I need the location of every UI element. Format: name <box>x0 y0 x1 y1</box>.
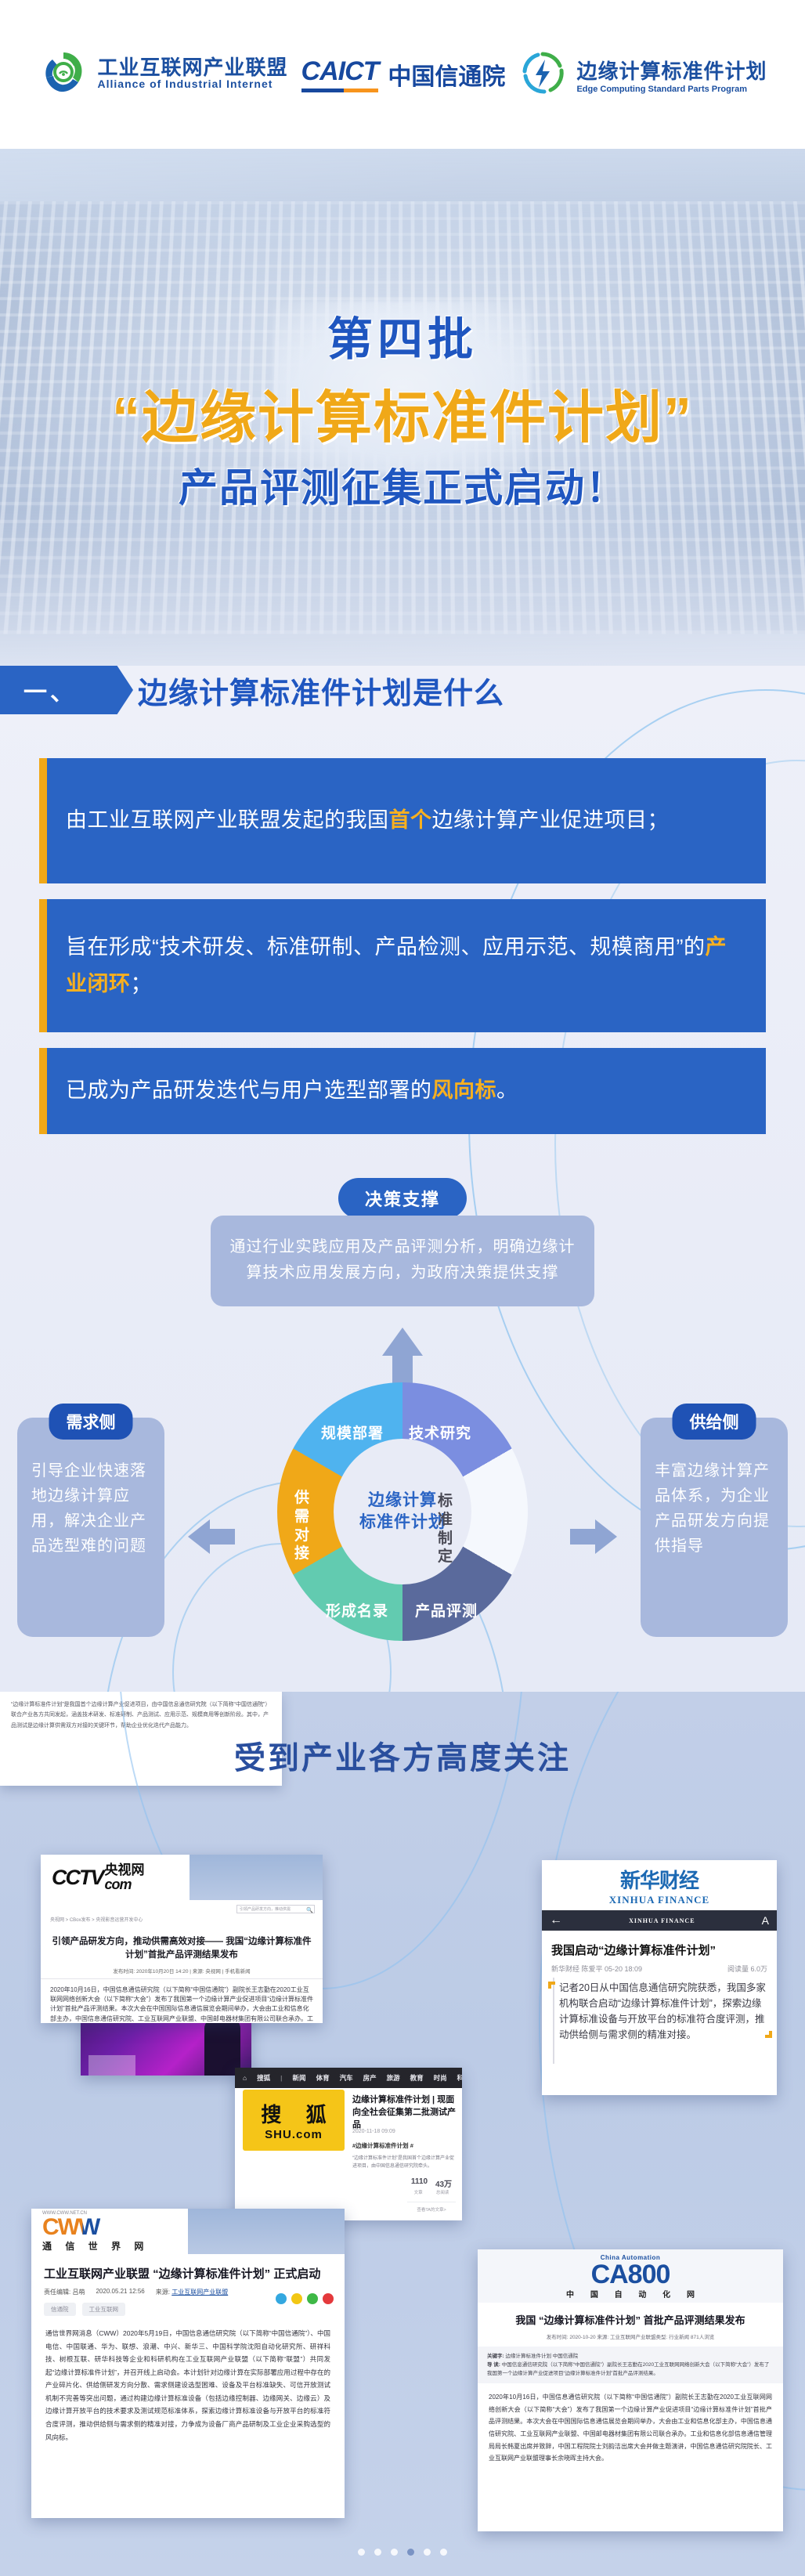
ca800-lead-label: 导 读: <box>487 2362 500 2368</box>
arrow-left-icon <box>188 1519 210 1554</box>
ca800-keyword-block: 关键字: 边缘计算标准件计划 中国信通院 导 读: 中国信息通信研究院（以下简称… <box>478 2347 783 2383</box>
xinhua-body-text: 记者20日从中国信息通信研究院获悉，我国多家机构联合启动“边缘计算标准件计划”，… <box>559 1982 766 2040</box>
carousel-dot-3[interactable] <box>407 2549 414 2556</box>
section-title: 边缘计算标准件计划是什么 <box>138 669 504 712</box>
aii-logo-icon <box>38 48 88 102</box>
home-icon[interactable]: ⌂ <box>243 2074 247 2082</box>
sohu-nav-6[interactable]: 教育 <box>410 2073 424 2083</box>
sohu-stat-reads-value: 43万 <box>435 2177 452 2189</box>
cww-editor-label: 责任编辑: <box>44 2289 70 2296</box>
xinhua-navbar-logo: XINHUA FINANCE <box>629 1917 695 1924</box>
logo-bar: 工业互联网产业联盟 Alliance of Industrial Interne… <box>0 0 805 149</box>
sohu-nav-2[interactable]: 体育 <box>316 2073 330 2083</box>
cww-logo-en: CWW <box>42 2216 149 2239</box>
share-icons <box>276 2293 334 2304</box>
aii-logo-en: Alliance of Industrial Internet <box>98 78 273 90</box>
carousel-dots[interactable] <box>358 2549 447 2556</box>
bullet-2-post: ； <box>131 972 153 995</box>
section-media-coverage: 受到产业各方高度关注 2020工业互联网 网络创新大会 CCTV 央视网 com <box>0 1692 805 2576</box>
section-what-is: 一、 边缘计算标准件计划是什么 由工业互联网产业联盟发起的我国首个边缘计算产业促… <box>0 666 805 1692</box>
aii-logo-cn: 工业互联网产业联盟 <box>98 56 288 79</box>
sohu-logo: 搜 狐 SHU.com <box>243 2090 345 2151</box>
hero-line-3: 产品评测征集正式启动！ <box>179 457 626 513</box>
bullet-item: 旨在形成“技术研发、标准研制、产品检测、应用示范、规模商用”的产业闭环； <box>39 899 766 1032</box>
sohu-body: “边缘计算标准件计划”是我国首个边缘计算产业促进项目，由中国信息通信研究院牵头。 <box>352 2155 458 2170</box>
sohu-logo-en: SHU.com <box>265 2128 323 2141</box>
hero-banner: 第四批 “边缘计算标准件计划” 产品评测征集正式启动！ <box>0 149 805 666</box>
cctv-search-input[interactable]: 引领产品研发方向，推动供需 🔍 <box>236 1905 315 1913</box>
news-card-cww[interactable]: WWW.CWW.NET.CN CWW 通 信 世 界 网 工业互联网产业联盟 “… <box>31 2209 345 2518</box>
xinhua-navbar: ← XINHUA FINANCE A <box>542 1910 777 1931</box>
search-icon[interactable]: 🔍 <box>306 1906 313 1915</box>
caict-underline <box>301 89 379 92</box>
xinhua-logo-en: XINHUA FINANCE <box>609 1894 709 1906</box>
carousel-dot-4[interactable] <box>424 2549 431 2556</box>
cctv-headline: 引领产品研发方向，推动供需高效对接—— 我国“边缘计算标准件计划”首批产品评测结… <box>41 1931 323 1961</box>
sohu-nav-0[interactable]: 搜狐 <box>257 2073 270 2083</box>
ca800-logo-cn: 中 国 自 动 化 网 <box>478 2288 783 2300</box>
segment-label-standard: 标准制定 <box>438 1492 463 1566</box>
cctv-breadcrumb: 央视网 > CBox发布 > 央视影音运营开发中心 <box>50 1917 313 1924</box>
xinhua-reads: 阅读量 6.0万 <box>727 1964 767 1974</box>
bullet-accent-bar <box>39 899 47 1032</box>
ca800-logo-big: CA800 <box>478 2261 783 2288</box>
cctv-search-value: 引领产品研发方向，推动供需 <box>240 1907 291 1912</box>
arrow-right-stem <box>570 1529 597 1545</box>
bullet-2-pre: 旨在形成“技术研发、标准研制、产品检测、应用示范、规模商用”的 <box>66 935 705 959</box>
cww-body: 通信世界网消息（CWW）2020年5月19日，中国信息通信研究院（以下简称“中国… <box>31 2316 345 2444</box>
news-card-ca800[interactable]: China Automation CA800 中 国 自 动 化 网 我国 “边… <box>478 2249 783 2531</box>
cctv-banner <box>190 1855 323 1900</box>
cww-date: 2020.05.21 12:56 <box>96 2288 144 2296</box>
font-size-icon[interactable]: A <box>762 1914 769 1927</box>
logo-aii: 工业互联网产业联盟 Alliance of Industrial Interne… <box>38 48 288 102</box>
hero-line-1: 第四批 <box>327 302 478 368</box>
carousel-dot-0[interactable] <box>358 2549 365 2556</box>
donut-center-line-1: 边缘计算 <box>368 1490 437 1512</box>
qzone-share-icon[interactable] <box>291 2293 302 2304</box>
bullet-3-post: 。 <box>496 1078 518 1102</box>
cww-headline: 工业互联网产业联盟 “边缘计算标准件计划” 正式启动 <box>31 2254 345 2282</box>
demand-side-tag: 需求侧 <box>49 1404 133 1440</box>
section-heading: 一、 边缘计算标准件计划是什么 <box>0 666 805 714</box>
ca800-logo: China Automation CA800 中 国 自 动 化 网 <box>478 2249 783 2303</box>
caict-logo-en: CAICT <box>301 56 379 86</box>
ecsp-logo-text: 边缘计算标准件计划 Edge Computing Standard Parts … <box>576 56 767 94</box>
sohu-headline: 边缘计算标准件计划 | 现面向全社会征集第二批测试产品 <box>352 2094 456 2132</box>
carousel-dot-2[interactable] <box>391 2549 398 2556</box>
ecsp-logo-en: Edge Computing Standard Parts Program <box>576 85 767 94</box>
ca800-keywords: 边缘计算标准件计划 中国信通院 <box>505 2354 578 2359</box>
segment-label-tech: 技术研究 <box>409 1422 471 1443</box>
sohu-nav-5[interactable]: 旅游 <box>387 2073 400 2083</box>
sohu-author-stats: 1110 43万 文章 总阅读 查看TA的文章> <box>407 2177 456 2213</box>
xinhua-author: 新华财经 陈爱平 05-20 18:09 <box>551 1964 642 1974</box>
bullet-1-highlight: 首个 <box>389 808 432 832</box>
cctv-meta: 发布时间: 2020年10月20日 14:20 | 来源: 央视网 | 手机看新… <box>41 1962 323 1979</box>
quote-close-icon <box>765 2031 772 2038</box>
sohu-nav-7[interactable]: 时尚 <box>434 2073 447 2083</box>
cww-editor: 吕萌 <box>72 2289 85 2296</box>
bullet-accent-bar <box>39 758 47 883</box>
sohu-nav-8[interactable]: 科技 <box>457 2073 462 2083</box>
bullet-item: 由工业互联网产业联盟发起的我国首个边缘计算产业促进项目； <box>39 758 766 883</box>
sohu-nav-4[interactable]: 房产 <box>363 2073 377 2083</box>
sohu-tag[interactable]: #边缘计算标准件计划 # <box>352 2141 413 2150</box>
xinhua-headline: 我国启动“边缘计算标准件计划” <box>542 1931 777 1958</box>
news-card-cctv[interactable]: CCTV 央视网 com 引领产品研发方向，推动供需 🔍 央视网 > CBox发… <box>41 1855 323 2023</box>
demand-side-box: 需求侧 引导企业快速落地边缘计算应用，解决企业产品选型难的问题 <box>17 1418 164 1637</box>
cww-logo-cn: 通 信 世 界 网 <box>42 2239 149 2253</box>
hero-title-group: 第四批 “边缘计算标准件计划” 产品评测征集正式启动！ <box>0 149 805 666</box>
conference-podium <box>88 2055 135 2076</box>
qq-share-icon[interactable] <box>276 2293 287 2304</box>
segment-label-catalog: 形成名录 <box>326 1599 388 1620</box>
segment-label-deployment: 规模部署 <box>321 1422 384 1443</box>
ca800-headline: 我国 “边缘计算标准件计划” 首批产品评测结果发布 <box>478 2303 783 2327</box>
sohu-nav-1[interactable]: 新闻 <box>293 2073 306 2083</box>
decision-support-pill: 决策支撑 <box>338 1178 467 1219</box>
cww-tag-1[interactable]: 工业互联网 <box>82 2303 126 2316</box>
cww-banner <box>188 2209 345 2254</box>
donut-center-line-2: 标准件计划 <box>359 1512 446 1534</box>
weibo-share-icon[interactable] <box>323 2293 334 2304</box>
xinhua-meta: 新华财经 陈爱平 05-20 18:09 阅读量 6.0万 <box>542 1958 777 1980</box>
cww-source-label: 来源: <box>156 2289 170 2296</box>
logo-ecsp: 边缘计算标准件计划 Edge Computing Standard Parts … <box>518 50 767 99</box>
caict-logo-cn: 中国信通院 <box>388 57 505 92</box>
supply-side-box: 供给侧 丰富边缘计算产品体系，为企业产品研发方向提供指导 <box>641 1418 788 1637</box>
ca800-body: 2020年10月16日，中国信息通信研究院（以下简称“中国信通院”）副院长王志勤… <box>478 2383 783 2465</box>
cctv-logo-com: com <box>105 1877 132 1892</box>
xinhua-logo-cn: 新华财经 <box>620 1865 699 1894</box>
wechat-share-icon[interactable] <box>307 2293 318 2304</box>
hero-line-2: “边缘计算标准件计划” <box>112 371 693 453</box>
news-card-xinhua[interactable]: 新华财经 XINHUA FINANCE ← XINHUA FINANCE A 我… <box>542 1860 777 2095</box>
xinhua-body: 记者20日从中国信息通信研究院获悉，我国多家机构联合启动“边缘计算标准件计划”，… <box>542 1980 777 2043</box>
sohu-stat-reads-label: 总阅读 <box>436 2189 449 2195</box>
bullet-1-pre: 由工业互联网产业联盟发起的我国 <box>66 808 389 832</box>
ecsp-logo-cn: 边缘计算标准件计划 <box>576 56 767 85</box>
supply-side-tag: 供给侧 <box>673 1404 756 1440</box>
segment-label-evaluation: 产品评测 <box>415 1599 478 1620</box>
poster-page: 工业互联网产业联盟 Alliance of Industrial Interne… <box>0 0 805 2576</box>
bullet-3-pre: 已成为产品研发迭代与用户选型部署的 <box>66 1078 432 1102</box>
sohu-date: 2020-11-18 09:09 <box>352 2129 395 2134</box>
caict-logo-icon: CAICT <box>301 56 379 92</box>
xinhua-logo: 新华财经 XINHUA FINANCE <box>542 1860 777 1910</box>
sohu-logo-cn: 搜 狐 <box>251 2099 335 2128</box>
arrow-left-stem <box>208 1529 235 1545</box>
bullet-item: 已成为产品研发迭代与用户选型部署的风向标。 <box>39 1048 766 1134</box>
sohu-stat-articles-label: 文章 <box>414 2189 423 2195</box>
segment-label-matching: 供需对接 <box>294 1489 319 1563</box>
ecsp-logo-icon <box>518 50 567 99</box>
bullet-accent-bar <box>39 1048 47 1134</box>
carousel-dot-1[interactable] <box>374 2549 381 2556</box>
logo-caict: CAICT 中国信通院 <box>301 56 506 92</box>
sohu-stat-articles-value: 1110 <box>411 2177 428 2189</box>
ca800-meta: 发布时间: 2020-10-20 来源: 工业互联网产业联盟类型: 行业新闻 8… <box>478 2327 783 2347</box>
cww-source[interactable]: 工业互联网产业联盟 <box>171 2289 228 2296</box>
sohu-navbar: ⌂ 搜狐 | 新闻 体育 汽车 房产 旅游 教育 时尚 科技 财经 娱乐 <box>235 2068 462 2088</box>
decision-support-card: 通过行业实践应用及产品评测分析，明确边缘计算技术应用发展方向，为政府决策提供支撑 <box>211 1216 594 1306</box>
media-section-title: 受到产业各方高度关注 <box>0 1732 805 1778</box>
carousel-dot-5[interactable] <box>440 2549 447 2556</box>
sohu-nav-3[interactable]: 汽车 <box>340 2073 353 2083</box>
conference-speaker <box>204 2018 240 2076</box>
bullet-3-highlight: 风向标 <box>432 1078 497 1102</box>
quote-open-icon <box>548 1982 555 1989</box>
arrow-right-icon <box>595 1519 617 1554</box>
aii-logo-text: 工业互联网产业联盟 Alliance of Industrial Interne… <box>98 57 288 92</box>
cycle-diagram: 边缘计算 标准件计划 技术研究 标准制定 产品评测 形成名录 供需对接 规模部署 <box>277 1382 528 1641</box>
cww-tag-0[interactable]: 信通院 <box>44 2303 76 2316</box>
sohu-more-link[interactable]: 查看TA的文章> <box>407 2202 456 2213</box>
cctv-logo-en: CCTV <box>52 1866 103 1890</box>
cctv-body: 2020年10月16日，中国信息通信研究院（以下简称“中国信通院”）副院长王志勤… <box>41 1979 323 2023</box>
arrow-up-icon <box>382 1328 423 1356</box>
back-arrow-icon[interactable]: ← <box>550 1913 562 1927</box>
bullet-1-post: 边缘计算产业促进项目； <box>432 808 670 832</box>
news-card-sohu[interactable]: ⌂ 搜狐 | 新闻 体育 汽车 房产 旅游 教育 时尚 科技 财经 娱乐 搜 狐… <box>235 2068 462 2220</box>
ca800-keywords-label: 关键字: <box>487 2354 504 2359</box>
cctv-logo-cn: 央视网 <box>105 1862 145 1877</box>
ca800-lead: 中国信息通信研究院（以下简称“中国信通院”）副院长王志勤在2020工业互联网网络… <box>487 2362 769 2376</box>
section-number: 一、 <box>0 666 133 714</box>
